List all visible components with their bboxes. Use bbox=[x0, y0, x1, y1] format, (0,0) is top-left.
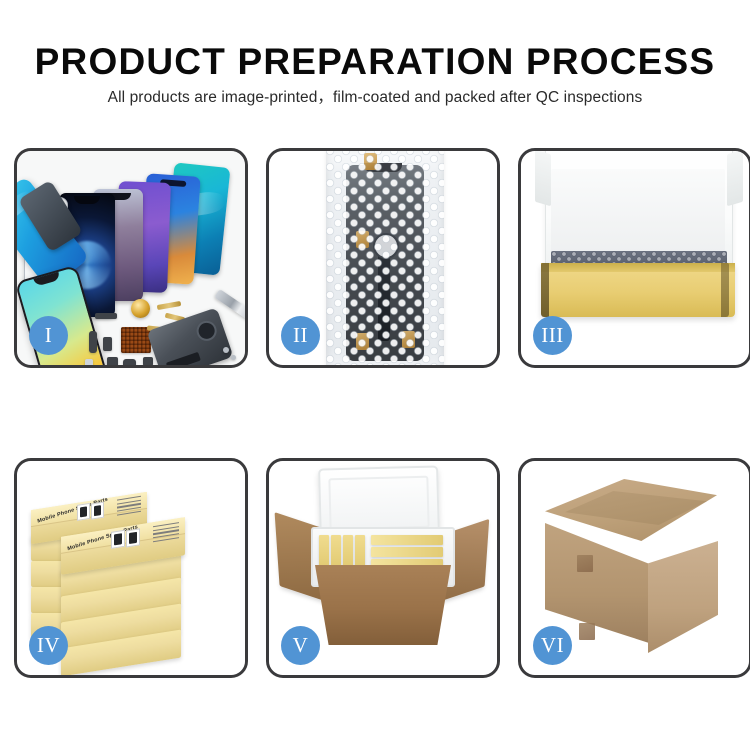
carton-tape-upper bbox=[577, 555, 593, 572]
box-base-yellow bbox=[541, 263, 735, 317]
step-badge-5: V bbox=[281, 626, 320, 665]
component-chip-e bbox=[89, 331, 97, 353]
step-panel-1[interactable]: I bbox=[14, 148, 248, 368]
step-panel-5[interactable]: V bbox=[266, 458, 500, 678]
step-panel-4[interactable]: Mobile Phone Spare Parts bbox=[14, 458, 248, 678]
carton-tape-lower bbox=[579, 623, 595, 640]
component-button bbox=[85, 359, 93, 365]
step-badge-1: I bbox=[29, 316, 68, 355]
carton-side-face bbox=[648, 541, 718, 653]
bubble-texture bbox=[326, 151, 444, 365]
component-chip-c bbox=[143, 357, 153, 365]
screw-a bbox=[223, 347, 229, 353]
box-thumbnail-right-a bbox=[111, 530, 125, 549]
box-spec-lines-right bbox=[153, 522, 179, 545]
box-thumbnail-left-a bbox=[77, 503, 90, 521]
phone-chassis-backplate bbox=[147, 307, 234, 365]
step-badge-2: II bbox=[281, 316, 320, 355]
step-badge-3: III bbox=[533, 316, 572, 355]
step-panel-6[interactable]: VI bbox=[518, 458, 750, 678]
box-thumbnail-right-b bbox=[126, 528, 140, 547]
step-badge-6: VI bbox=[533, 626, 572, 665]
inner-box-f bbox=[371, 547, 443, 557]
step-panel-2[interactable]: II bbox=[266, 148, 500, 368]
copper-mesh-component bbox=[121, 327, 151, 353]
box-edge-right bbox=[721, 263, 729, 317]
component-chip-d bbox=[103, 337, 112, 351]
box-thumbnail-left-b bbox=[91, 502, 104, 520]
inner-box-e bbox=[371, 535, 443, 545]
gold-coil-component bbox=[131, 299, 150, 318]
component-bar bbox=[95, 313, 117, 319]
box-spec-lines-left bbox=[117, 496, 141, 518]
component-chip-a bbox=[107, 357, 118, 365]
carton-body bbox=[315, 565, 451, 645]
bubble-wrap-bag bbox=[326, 151, 444, 365]
carton-front-face bbox=[545, 523, 649, 643]
component-chip-b bbox=[123, 359, 136, 365]
box-edge-left bbox=[541, 263, 549, 317]
process-step-grid: I II bbox=[0, 0, 750, 750]
screw-b bbox=[231, 355, 236, 360]
step-badge-4: IV bbox=[29, 626, 68, 665]
step-panel-3[interactable]: III bbox=[518, 148, 750, 368]
flex-cable-a bbox=[157, 301, 182, 310]
